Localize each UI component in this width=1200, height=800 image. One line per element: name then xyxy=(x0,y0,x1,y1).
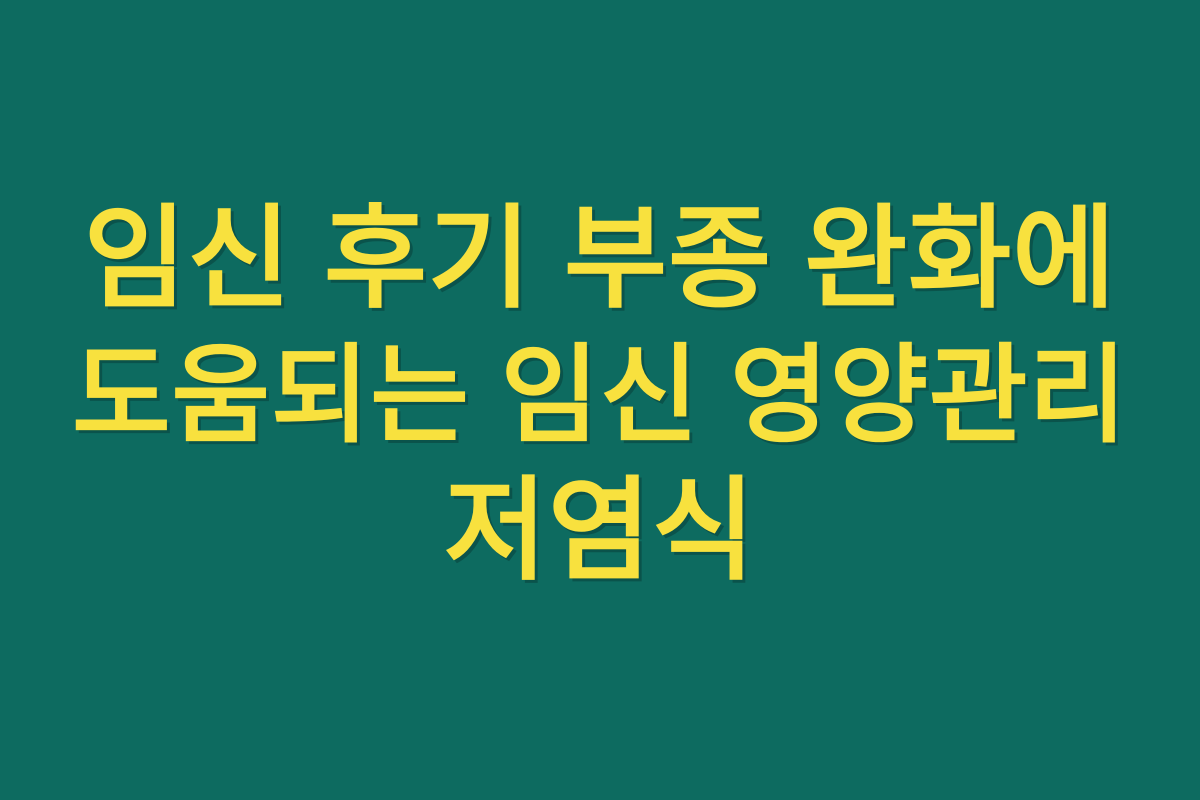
title-block: 임신 후기 부종 완화에 도움되는 임신 영양관리 저염식 xyxy=(70,191,1130,599)
title-line-3: 저염식 xyxy=(70,463,1130,599)
title-line-2: 도움되는 임신 영양관리 xyxy=(70,327,1130,463)
thumbnail-canvas: 임신 후기 부종 완화에 도움되는 임신 영양관리 저염식 xyxy=(0,0,1200,800)
title-line-1: 임신 후기 부종 완화에 xyxy=(70,191,1130,327)
